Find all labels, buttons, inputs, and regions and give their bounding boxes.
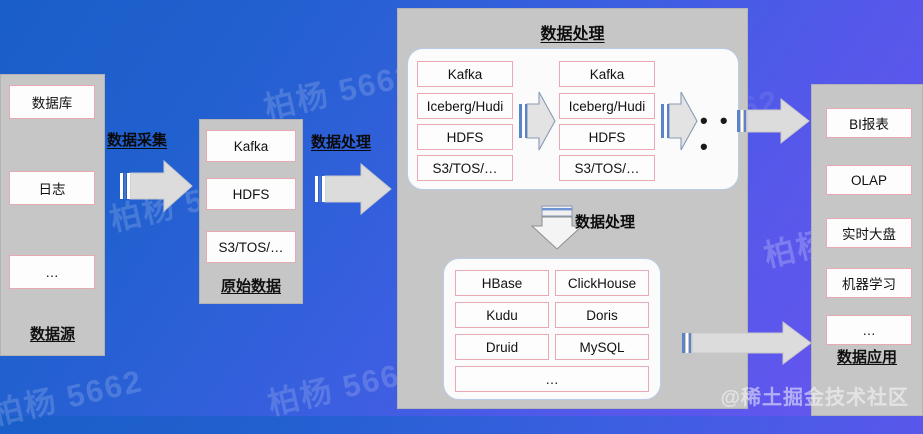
source-item-database[interactable]: 数据库 bbox=[9, 85, 95, 119]
app-item-machine-learning[interactable]: 机器学习 bbox=[826, 268, 912, 298]
raw-item-kafka[interactable]: Kafka bbox=[206, 130, 296, 162]
process-arrow-icon bbox=[313, 160, 395, 218]
app-item-more[interactable]: … bbox=[826, 315, 912, 345]
stage1-item-iceberg-hudi[interactable]: Iceberg/Hudi bbox=[417, 93, 513, 119]
processing-panel-title: 数据处理 bbox=[397, 20, 748, 44]
source-item-more[interactable]: … bbox=[9, 255, 95, 289]
down-arrow-label: 数据处理 bbox=[575, 211, 635, 232]
stage1-item-kafka[interactable]: Kafka bbox=[417, 61, 513, 87]
stage1-item-s3[interactable]: S3/TOS/… bbox=[417, 155, 513, 181]
stage2-item-s3[interactable]: S3/TOS/… bbox=[559, 155, 655, 181]
store-item-druid[interactable]: Druid bbox=[455, 334, 549, 360]
brand-watermark: @稀土掘金技术社区 bbox=[720, 381, 909, 410]
store-item-kudu[interactable]: Kudu bbox=[455, 302, 549, 328]
store-item-doris[interactable]: Doris bbox=[555, 302, 649, 328]
source-item-log[interactable]: 日志 bbox=[9, 171, 95, 205]
app-item-realtime-dashboard[interactable]: 实时大盘 bbox=[826, 218, 912, 248]
stage2-item-iceberg-hudi[interactable]: Iceberg/Hudi bbox=[559, 93, 655, 119]
stage-transition-arrow-1 bbox=[517, 90, 557, 152]
raw-data-panel-label: 原始数据 bbox=[199, 275, 303, 296]
store-item-more[interactable]: … bbox=[455, 366, 649, 392]
stage1-item-hdfs[interactable]: HDFS bbox=[417, 124, 513, 150]
collect-arrow-icon bbox=[118, 157, 196, 215]
process-arrow-label: 数据处理 bbox=[311, 131, 371, 152]
stage-transition-arrow-2 bbox=[659, 90, 699, 152]
application-panel-label: 数据应用 bbox=[811, 346, 923, 367]
stage2-item-hdfs[interactable]: HDFS bbox=[559, 124, 655, 150]
store-item-hbase[interactable]: HBase bbox=[455, 270, 549, 296]
output-arrow-top bbox=[735, 96, 813, 146]
watermark-tile: 柏杨 5662 bbox=[0, 355, 147, 433]
app-item-olap[interactable]: OLAP bbox=[826, 165, 912, 195]
source-panel-label: 数据源 bbox=[0, 323, 105, 344]
watermark-tile: 柏杨 5662 bbox=[259, 49, 419, 127]
store-item-mysql[interactable]: MySQL bbox=[555, 334, 649, 360]
store-item-clickhouse[interactable]: ClickHouse bbox=[555, 270, 649, 296]
output-arrow-bottom bbox=[680, 320, 815, 366]
raw-item-hdfs[interactable]: HDFS bbox=[206, 178, 296, 210]
diagram-canvas: 柏杨 5662 柏杨 5662 柏杨 5662 柏杨 5662 柏杨 5662 … bbox=[0, 0, 923, 416]
raw-item-s3[interactable]: S3/TOS/… bbox=[206, 231, 296, 263]
app-item-bi-report[interactable]: BI报表 bbox=[826, 108, 912, 138]
collect-arrow-label: 数据采集 bbox=[107, 129, 167, 150]
stage2-item-kafka[interactable]: Kafka bbox=[559, 61, 655, 87]
